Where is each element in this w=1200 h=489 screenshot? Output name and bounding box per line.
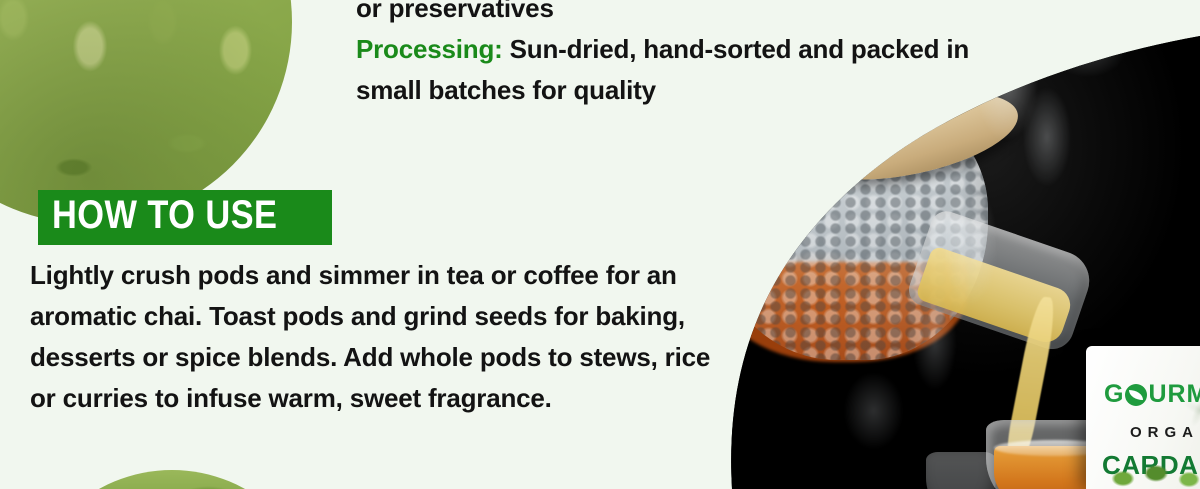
processing-label: Processing: [356, 34, 503, 64]
cardamom-pods-circle-partial-image [22, 470, 322, 489]
product-pouch: G URM ORGAN CARDAMOM [1086, 346, 1200, 489]
pouch-pods-graphic [1096, 461, 1200, 489]
infographic-banner: G URM ORGAN CARDAMOM or preservatives Pr… [0, 0, 1200, 489]
how-to-use-body-text: Lightly crush pods and simmer in tea or … [30, 255, 720, 419]
brand-logo-letter-g: G [1104, 380, 1124, 409]
leaf-icon [1125, 384, 1147, 406]
how-to-use-heading: HOW TO USE [52, 194, 277, 236]
how-to-use-banner: HOW TO USE [38, 190, 332, 245]
brand-logo-text: URM [1148, 380, 1200, 409]
pouch-organic-label: ORGAN [1130, 424, 1200, 441]
brand-logo: G URM [1104, 380, 1200, 409]
cut-off-text-line: or preservatives [356, 0, 1016, 29]
processing-text-block: or preservatives Processing: Sun-dried, … [356, 0, 1016, 111]
